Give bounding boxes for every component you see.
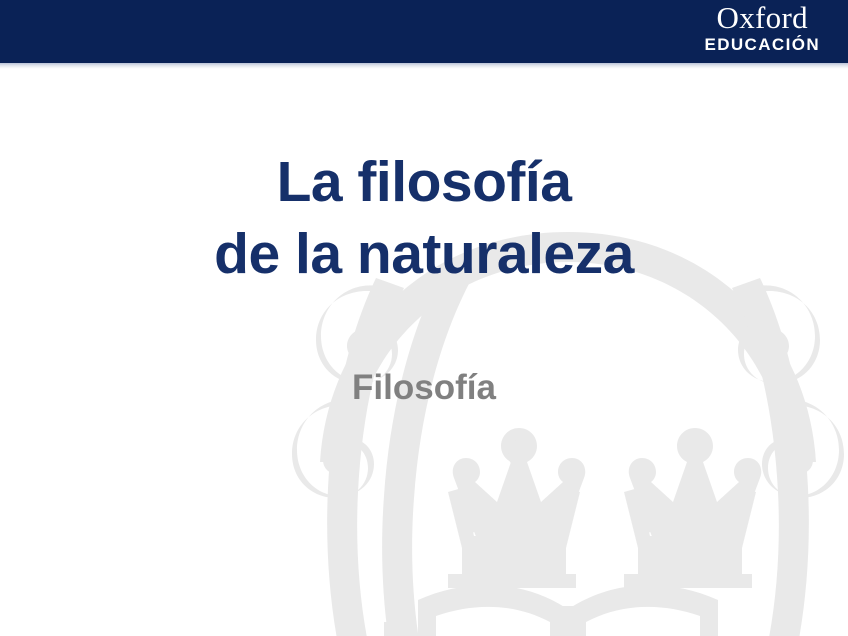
slide-content: La filosofía de la naturaleza Filosofía bbox=[0, 0, 848, 636]
page-title-line-1: La filosofía bbox=[0, 146, 848, 218]
header-underline-divider bbox=[0, 63, 848, 69]
presentation-slide: DOMI MINA Oxford EDUCACIÓN La filosofía … bbox=[0, 0, 848, 636]
oxford-educacion-logo: Oxford EDUCACIÓN bbox=[704, 2, 820, 54]
page-subtitle: Filosofía bbox=[0, 367, 848, 409]
brand-name-oxford: Oxford bbox=[704, 2, 820, 33]
page-title: La filosofía de la naturaleza bbox=[0, 146, 848, 290]
brand-subline-educacion: EDUCACIÓN bbox=[704, 35, 820, 54]
page-title-line-2: de la naturaleza bbox=[0, 218, 848, 290]
